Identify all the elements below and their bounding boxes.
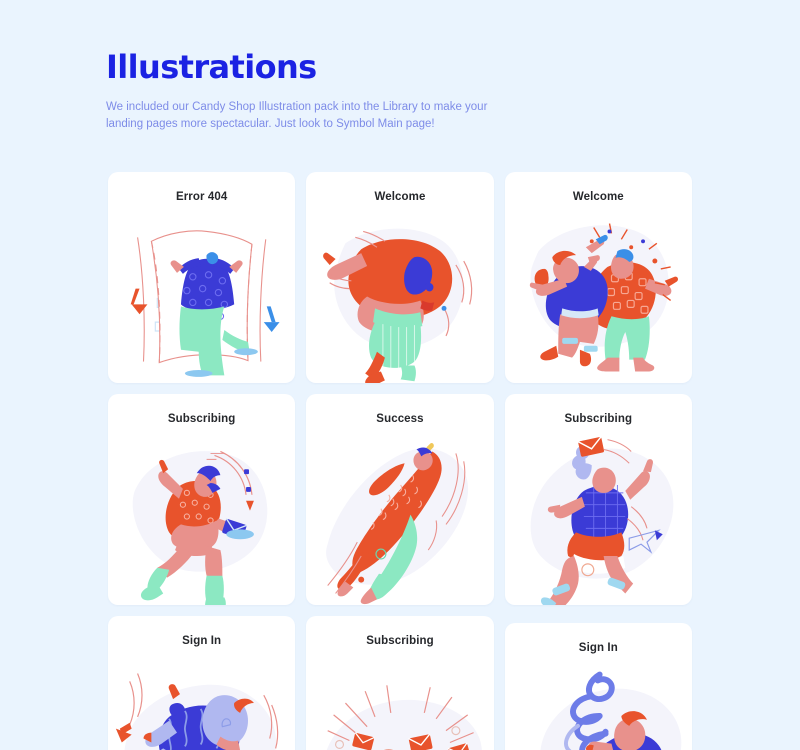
card-title: Subscribing	[505, 394, 692, 425]
illustrations-page: Illustrations We included our Candy Shop…	[0, 0, 800, 750]
card-title: Welcome	[306, 172, 493, 203]
illustration-grid: Error 404	[108, 172, 692, 750]
illustration-card[interactable]: Sign In	[108, 616, 295, 750]
illustration-card[interactable]: Success	[306, 394, 493, 605]
illustration-card[interactable]: Subscribing	[108, 394, 295, 605]
card-title: Error 404	[108, 172, 295, 203]
illustration-card[interactable]: Sign In	[505, 623, 692, 750]
illustration-card[interactable]: Subscribing	[505, 394, 692, 605]
card-title: Success	[306, 394, 493, 425]
illustration-card[interactable]: Error 404	[108, 172, 295, 383]
person-running-with-envelope-illustration	[108, 434, 295, 605]
person-flying-superhero-illustration	[306, 434, 493, 605]
page-title: Illustrations	[106, 48, 526, 86]
card-title: Sign In	[505, 623, 692, 654]
person-jumping-with-mail-illustration	[505, 434, 692, 605]
person-surrounded-by-envelopes-illustration	[306, 656, 493, 750]
page-header: Illustrations We included our Candy Shop…	[106, 48, 526, 132]
person-tearing-through-wall-illustration	[108, 212, 295, 383]
person-waving-leaning-illustration	[306, 212, 493, 383]
card-title: Sign In	[108, 616, 295, 647]
card-title: Subscribing	[108, 394, 295, 425]
person-with-blue-squiggle-illustration	[505, 663, 692, 750]
card-title: Welcome	[505, 172, 692, 203]
illustration-card[interactable]: Subscribing	[306, 616, 493, 750]
card-title: Subscribing	[306, 616, 493, 647]
illustration-card[interactable]: Welcome	[505, 172, 692, 383]
illustration-card[interactable]: Welcome	[306, 172, 493, 383]
person-with-key-squiggle-illustration	[108, 656, 295, 750]
page-subtitle: We included our Candy Shop Illustration …	[106, 99, 506, 132]
two-people-celebrating-confetti-illustration	[505, 212, 692, 383]
